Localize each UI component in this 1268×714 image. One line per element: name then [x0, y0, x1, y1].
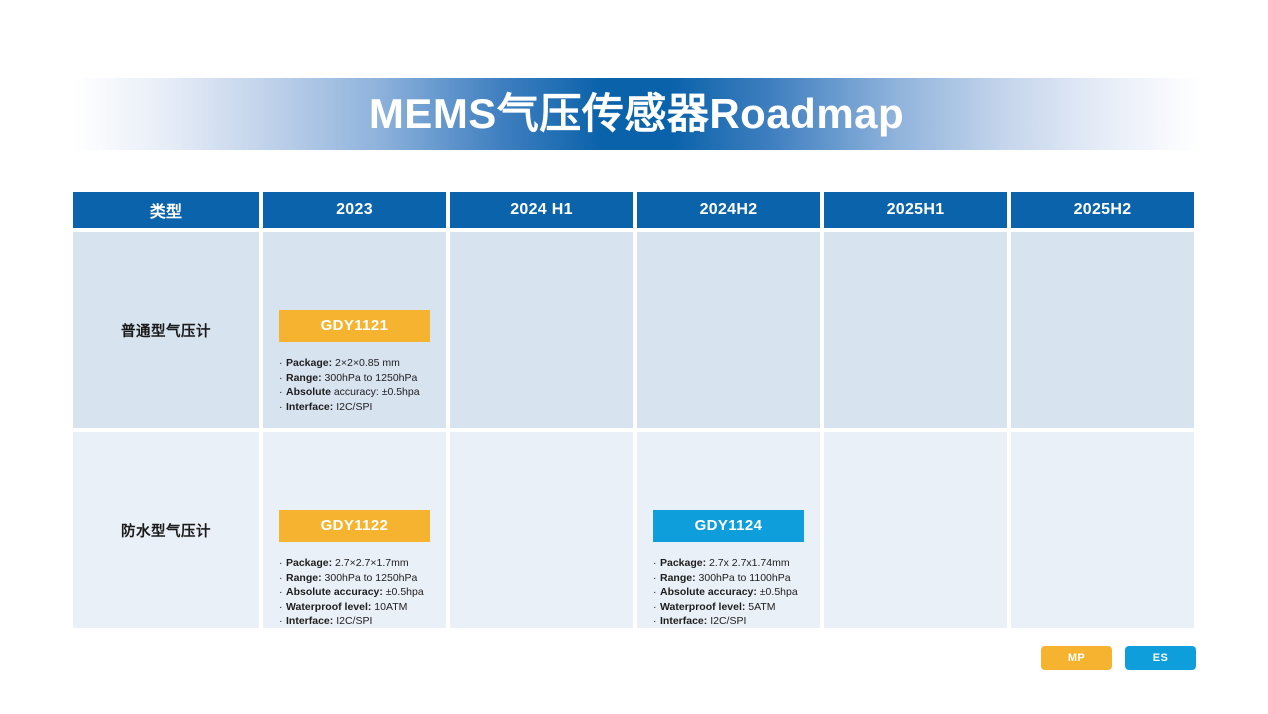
spec-value: I2C/SPI: [336, 401, 372, 413]
product-card-gdy1121[interactable]: GDY1121 ·Package: 2×2×0.85 mm ·Range: 30…: [279, 310, 430, 414]
spec-value: ±0.5hpa: [760, 586, 798, 598]
table-row: 防水型气压计 GDY1122 ·Package: 2.7×2.7×1.7mm ·…: [73, 432, 1195, 628]
cell-waterproof-2024h2: GDY1124 ·Package: 2.7x 2.7x1.74mm ·Range…: [637, 432, 820, 628]
spec-value: 300hPa to 1250hPa: [325, 572, 418, 584]
title-banner: MEMS气压传感器Roadmap: [73, 78, 1200, 150]
cell-standard-2025h2: [1011, 232, 1194, 428]
bullet-icon: ·: [279, 356, 286, 371]
spec-item: ·Interface: I2C/SPI: [279, 400, 430, 415]
spec-item: ·Range: 300hPa to 1100hPa: [653, 571, 804, 586]
spec-item: ·Absolute accuracy: ±0.5hpa: [279, 585, 430, 600]
spec-key: Range:: [286, 572, 322, 584]
spec-value: ±0.5hpa: [386, 586, 424, 598]
spec-item: ·Package: 2.7×2.7×1.7mm: [279, 556, 430, 571]
table-header-row: 类型 2023 2024 H1 2024H2 2025H1 2025H2: [73, 192, 1195, 228]
spec-key: Package:: [286, 357, 332, 369]
spec-value: 10ATM: [374, 601, 407, 613]
cell-waterproof-2025h2: [1011, 432, 1194, 628]
product-badge-gdy1122: GDY1122: [279, 510, 430, 542]
spec-item: ·Package: 2.7x 2.7x1.74mm: [653, 556, 804, 571]
cell-standard-2024h1: [450, 232, 633, 428]
table-row: 普通型气压计 GDY1121 ·Package: 2×2×0.85 mm ·Ra…: [73, 232, 1195, 428]
legend: MP ES: [1041, 646, 1196, 670]
spec-value: 5ATM: [748, 601, 775, 613]
column-header-type: 类型: [73, 192, 259, 228]
cell-standard-2023: GDY1121 ·Package: 2×2×0.85 mm ·Range: 30…: [263, 232, 446, 428]
page-title: MEMS气压传感器Roadmap: [73, 78, 1200, 150]
spec-key: Interface:: [286, 401, 333, 413]
spec-item: ·Absolute accuracy: ±0.5hpa: [279, 385, 430, 400]
cell-waterproof-2023: GDY1122 ·Package: 2.7×2.7×1.7mm ·Range: …: [263, 432, 446, 628]
spec-item: ·Interface: I2C/SPI: [653, 614, 804, 629]
spec-value: 2.7x 2.7x1.74mm: [709, 557, 790, 569]
spec-key: Waterproof level:: [660, 601, 745, 613]
spec-item: ·Range: 300hPa to 1250hPa: [279, 571, 430, 586]
spec-key: Absolute: [286, 386, 331, 398]
row-label-standard: 普通型气压计: [73, 232, 259, 428]
bullet-icon: ·: [653, 556, 660, 571]
spec-key: Interface:: [286, 615, 333, 627]
spec-value: 300hPa to 1100hPa: [699, 572, 791, 584]
bullet-icon: ·: [279, 371, 286, 386]
spec-item: ·Range: 300hPa to 1250hPa: [279, 371, 430, 386]
legend-chip-es[interactable]: ES: [1125, 646, 1196, 670]
bullet-icon: ·: [279, 600, 286, 615]
legend-chip-mp[interactable]: MP: [1041, 646, 1112, 670]
spec-list-gdy1124: ·Package: 2.7x 2.7x1.74mm ·Range: 300hPa…: [653, 556, 804, 629]
column-header-2024h2: 2024H2: [637, 192, 820, 228]
spec-list-gdy1121: ·Package: 2×2×0.85 mm ·Range: 300hPa to …: [279, 356, 430, 414]
product-card-gdy1122[interactable]: GDY1122 ·Package: 2.7×2.7×1.7mm ·Range: …: [279, 510, 430, 629]
bullet-icon: ·: [279, 400, 286, 415]
spec-key: Absolute accuracy:: [660, 586, 757, 598]
cell-waterproof-2024h1: [450, 432, 633, 628]
bullet-icon: ·: [279, 556, 286, 571]
row-label-waterproof: 防水型气压计: [73, 432, 259, 628]
column-header-2025h1: 2025H1: [824, 192, 1007, 228]
spec-key: Package:: [286, 557, 332, 569]
cell-standard-2024h2: [637, 232, 820, 428]
spec-value: I2C/SPI: [710, 615, 746, 627]
column-header-2024h1: 2024 H1: [450, 192, 633, 228]
bullet-icon: ·: [279, 571, 286, 586]
spec-value: 2×2×0.85 mm: [335, 357, 400, 369]
column-header-2025h2: 2025H2: [1011, 192, 1194, 228]
column-header-2023: 2023: [263, 192, 446, 228]
spec-key: Package:: [660, 557, 706, 569]
spec-key: Waterproof level:: [286, 601, 371, 613]
bullet-icon: ·: [653, 585, 660, 600]
spec-key: Absolute accuracy:: [286, 586, 383, 598]
bullet-icon: ·: [279, 385, 286, 400]
product-card-gdy1124[interactable]: GDY1124 ·Package: 2.7x 2.7x1.74mm ·Range…: [653, 510, 804, 629]
spec-item: ·Interface: I2C/SPI: [279, 614, 430, 629]
bullet-icon: ·: [653, 571, 660, 586]
roadmap-table: 类型 2023 2024 H1 2024H2 2025H1 2025H2 普通型…: [73, 192, 1195, 628]
spec-value: 2.7×2.7×1.7mm: [335, 557, 409, 569]
bullet-icon: ·: [653, 600, 660, 615]
spec-key: Range:: [660, 572, 696, 584]
product-badge-gdy1124: GDY1124: [653, 510, 804, 542]
spec-value: I2C/SPI: [336, 615, 372, 627]
spec-list-gdy1122: ·Package: 2.7×2.7×1.7mm ·Range: 300hPa t…: [279, 556, 430, 629]
spec-key: Range:: [286, 372, 322, 384]
spec-value: 300hPa to 1250hPa: [325, 372, 418, 384]
spec-item: ·Waterproof level: 10ATM: [279, 600, 430, 615]
bullet-icon: ·: [279, 585, 286, 600]
spec-item: ·Absolute accuracy: ±0.5hpa: [653, 585, 804, 600]
product-badge-gdy1121: GDY1121: [279, 310, 430, 342]
spec-key: Interface:: [660, 615, 707, 627]
spec-item: ·Package: 2×2×0.85 mm: [279, 356, 430, 371]
bullet-icon: ·: [653, 614, 660, 629]
bullet-icon: ·: [279, 614, 286, 629]
cell-waterproof-2025h1: [824, 432, 1007, 628]
cell-standard-2025h1: [824, 232, 1007, 428]
spec-value: accuracy: ±0.5hpa: [334, 386, 420, 398]
spec-item: ·Waterproof level: 5ATM: [653, 600, 804, 615]
